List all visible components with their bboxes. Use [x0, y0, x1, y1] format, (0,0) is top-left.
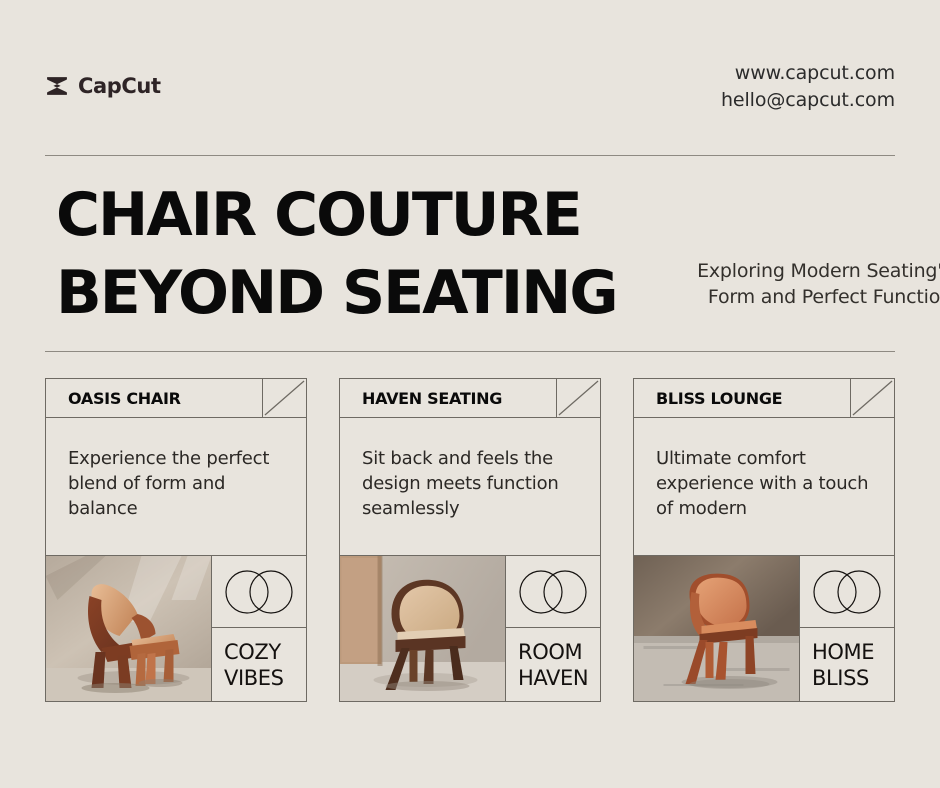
card-badge-text: ROOM HAVEN — [506, 628, 600, 701]
divider-top — [45, 155, 895, 156]
badge-line-1: ROOM — [518, 639, 600, 665]
page-header: CapCut www.capcut.com hello@capcut.com — [45, 60, 895, 138]
upholstered-armchair-photo — [340, 556, 506, 701]
card-description: Sit back and feels the design meets func… — [340, 418, 600, 556]
card-footer: COZY VIBES — [46, 556, 306, 701]
brand-lockup[interactable]: CapCut — [45, 74, 161, 98]
card-description: Experience the perfect blend of form and… — [46, 418, 306, 556]
capcut-hourglass-icon — [45, 74, 69, 98]
card-header: OASIS CHAIR — [46, 379, 306, 418]
card-title: OASIS CHAIR — [46, 379, 262, 417]
card-footer: HOME BLISS — [634, 556, 894, 701]
poster-canvas: CapCut www.capcut.com hello@capcut.com C… — [0, 0, 940, 788]
headline-line-1: CHAIR COUTURE — [56, 176, 896, 254]
product-card[interactable]: BLISS LOUNGE Ultimate comfort experience… — [633, 378, 895, 702]
badge-line-2: HAVEN — [518, 665, 600, 691]
product-card[interactable]: HAVEN SEATING Sit back and feels the des… — [339, 378, 601, 702]
card-badge-text: HOME BLISS — [800, 628, 894, 701]
diagonal-slash-icon — [556, 379, 600, 417]
card-description: Ultimate comfort experience with a touch… — [634, 418, 894, 556]
divider-bottom — [45, 351, 895, 352]
subheadline-line-2: Form and Perfect Function — [618, 284, 940, 310]
badge-line-1: COZY — [224, 639, 306, 665]
card-badge-text: COZY VIBES — [212, 628, 306, 701]
diagonal-slash-icon — [262, 379, 306, 417]
diagonal-slash-icon — [850, 379, 894, 417]
card-header: HAVEN SEATING — [340, 379, 600, 418]
overlapping-circles-icon — [800, 556, 894, 628]
brand-name: CapCut — [78, 74, 161, 98]
overlapping-circles-icon — [212, 556, 306, 628]
product-card[interactable]: OASIS CHAIR Experience the perfect blend… — [45, 378, 307, 702]
badge-line-2: BLISS — [812, 665, 894, 691]
contact-block: www.capcut.com hello@capcut.com — [721, 60, 895, 114]
badge-line-2: VIBES — [224, 665, 306, 691]
title-block: CHAIR COUTURE BEYOND SEATING Exploring M… — [56, 176, 896, 332]
card-title: BLISS LOUNGE — [634, 379, 850, 417]
subheadline: Exploring Modern Seating's Form and Perf… — [618, 258, 940, 310]
email-link[interactable]: hello@capcut.com — [721, 87, 895, 114]
terracotta-wooden-chair-photo — [634, 556, 800, 701]
badge-line-1: HOME — [812, 639, 894, 665]
product-card-grid: OASIS CHAIR Experience the perfect blend… — [45, 378, 895, 702]
card-badge-stack: HOME BLISS — [800, 556, 894, 701]
card-title: HAVEN SEATING — [340, 379, 556, 417]
subheadline-line-1: Exploring Modern Seating's — [618, 258, 940, 284]
card-footer: ROOM HAVEN — [340, 556, 600, 701]
card-badge-stack: ROOM HAVEN — [506, 556, 600, 701]
website-link[interactable]: www.capcut.com — [721, 60, 895, 87]
card-header: BLISS LOUNGE — [634, 379, 894, 418]
overlapping-circles-icon — [506, 556, 600, 628]
card-badge-stack: COZY VIBES — [212, 556, 306, 701]
sculptural-lounge-chair-photo — [46, 556, 212, 701]
